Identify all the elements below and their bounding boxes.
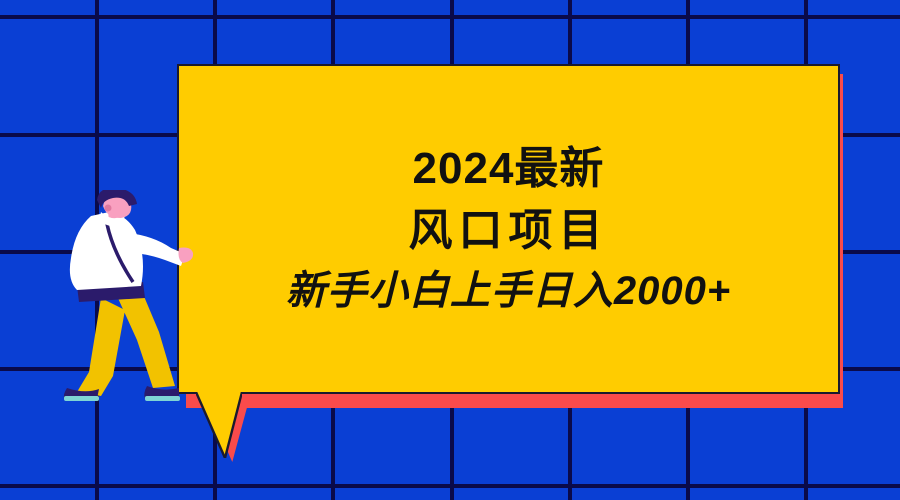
bubble-text-block: 2024最新 风口项目 新手小白上手日入2000+ (177, 64, 840, 394)
tagline-income: 新手小白上手日入2000+ (286, 271, 731, 311)
subhead-project: 风口项目 (409, 209, 609, 253)
character-front-sole (145, 396, 180, 401)
grid-line-horizontal (0, 484, 900, 488)
character-front-leg (117, 294, 175, 388)
grid-line-horizontal (0, 15, 900, 19)
character-ear (105, 205, 112, 212)
character-illustration (55, 190, 205, 410)
poster-canvas: 2024最新 风口项目 新手小白上手日入2000+ (0, 0, 900, 500)
headline-2024: 2024最新 (413, 147, 605, 191)
character-hand (179, 248, 194, 263)
character-back-leg (77, 298, 125, 396)
character-back-sole (64, 396, 99, 401)
